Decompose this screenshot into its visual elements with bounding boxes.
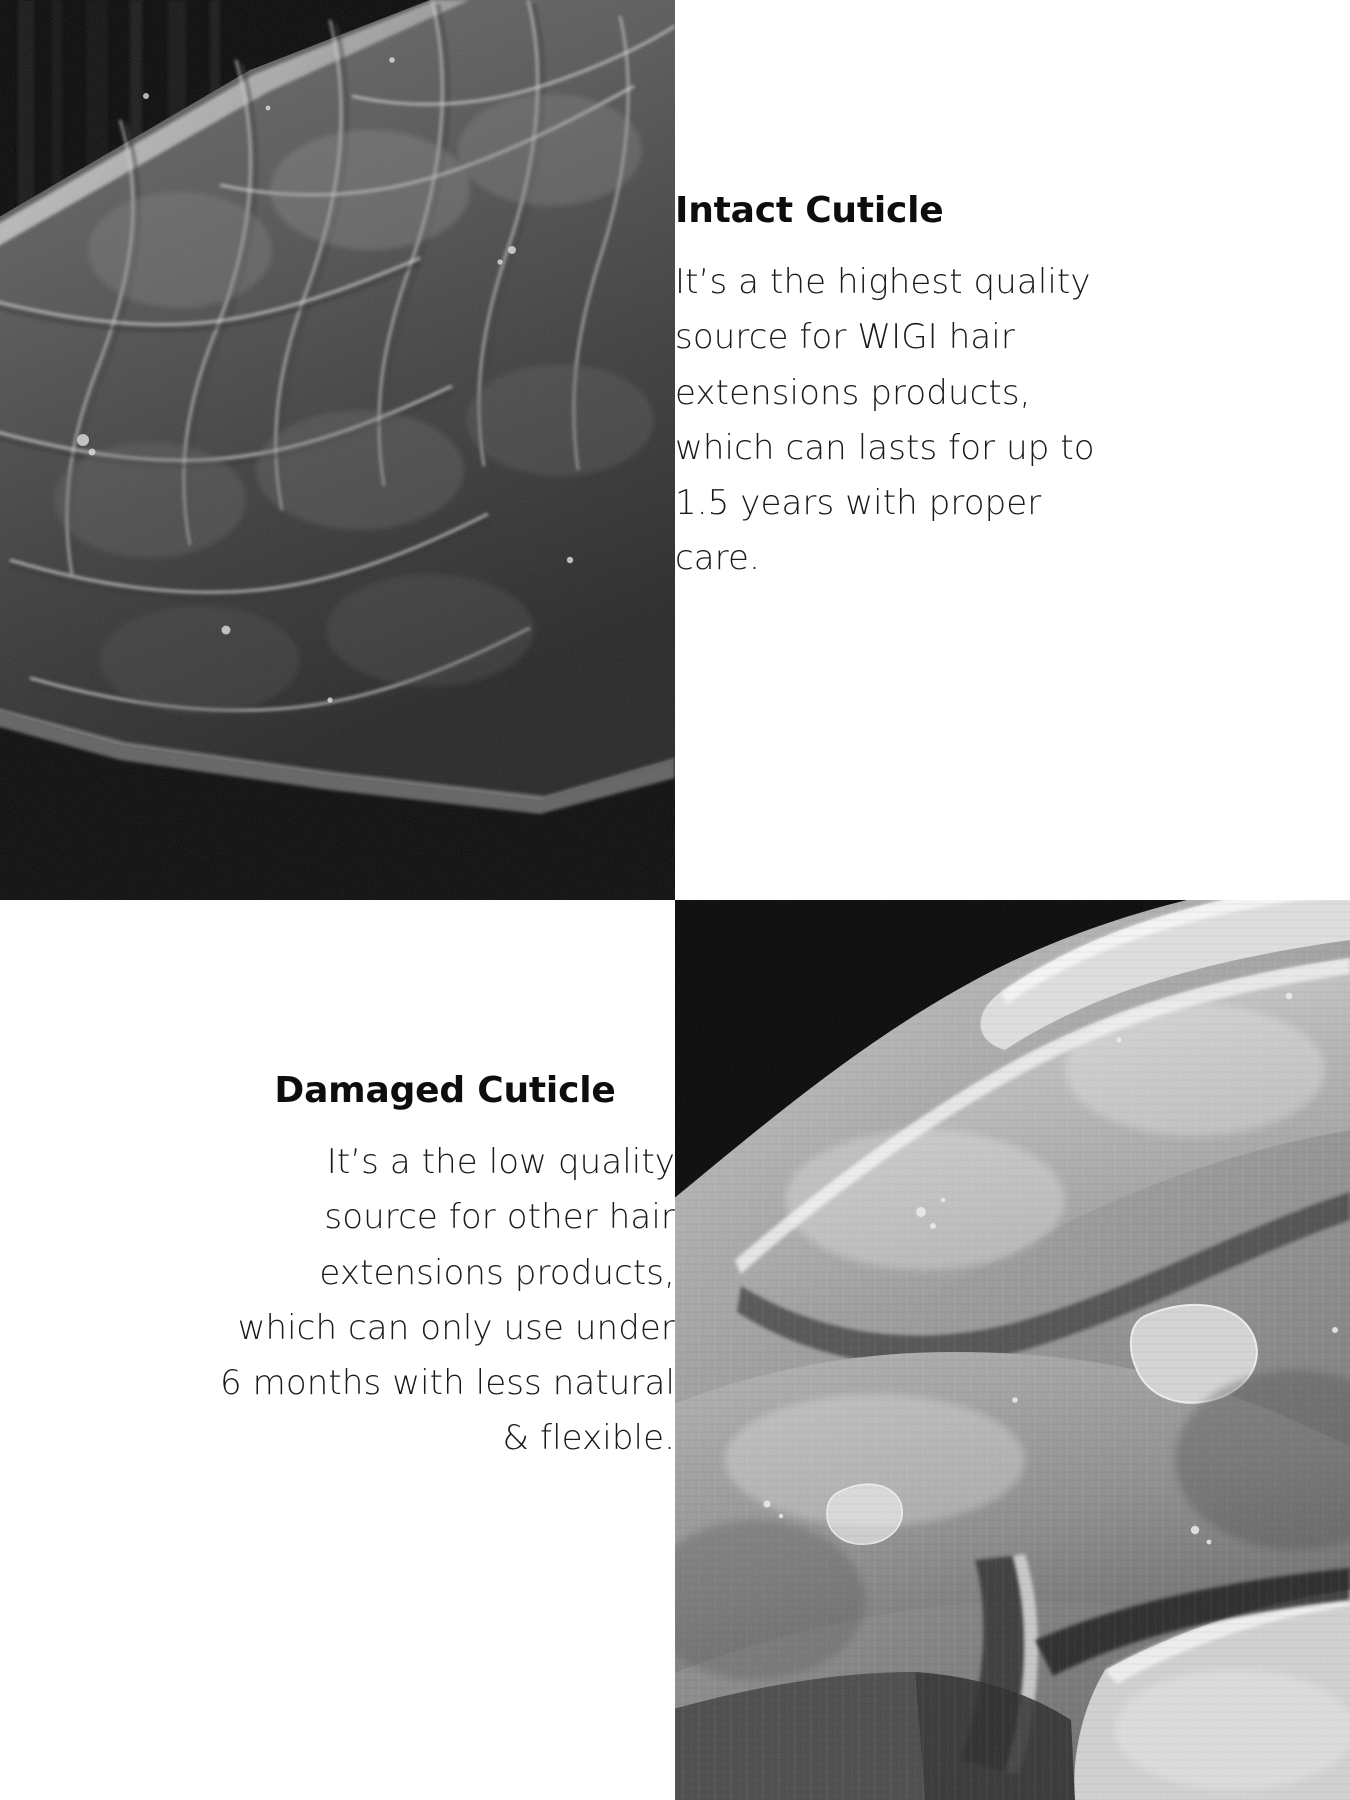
damaged-text-wrapper: Damaged Cuticle It’s a the low quality s… <box>0 900 675 1800</box>
intact-cuticle-heading: Intact Cuticle <box>675 190 1135 231</box>
comparison-page: Intact Cuticle It’s a the highest qualit… <box>0 0 1350 1800</box>
sem-intact-graphic <box>0 0 675 900</box>
damaged-cuticle-image <box>675 900 1350 1800</box>
damaged-cuticle-text-panel: Damaged Cuticle It’s a the low quality s… <box>0 900 675 1800</box>
intact-cuticle-body: It’s a the highest quality source for WI… <box>675 255 1135 585</box>
intact-text-wrapper: Intact Cuticle It’s a the highest qualit… <box>675 0 1350 900</box>
damaged-cuticle-body: It’s a the low quality source for other … <box>215 1135 675 1465</box>
sem-damaged-graphic <box>675 900 1350 1800</box>
damaged-cuticle-heading: Damaged Cuticle <box>215 1070 675 1111</box>
intact-cuticle-image <box>0 0 675 900</box>
intact-cuticle-text-panel: Intact Cuticle It’s a the highest qualit… <box>675 0 1350 900</box>
